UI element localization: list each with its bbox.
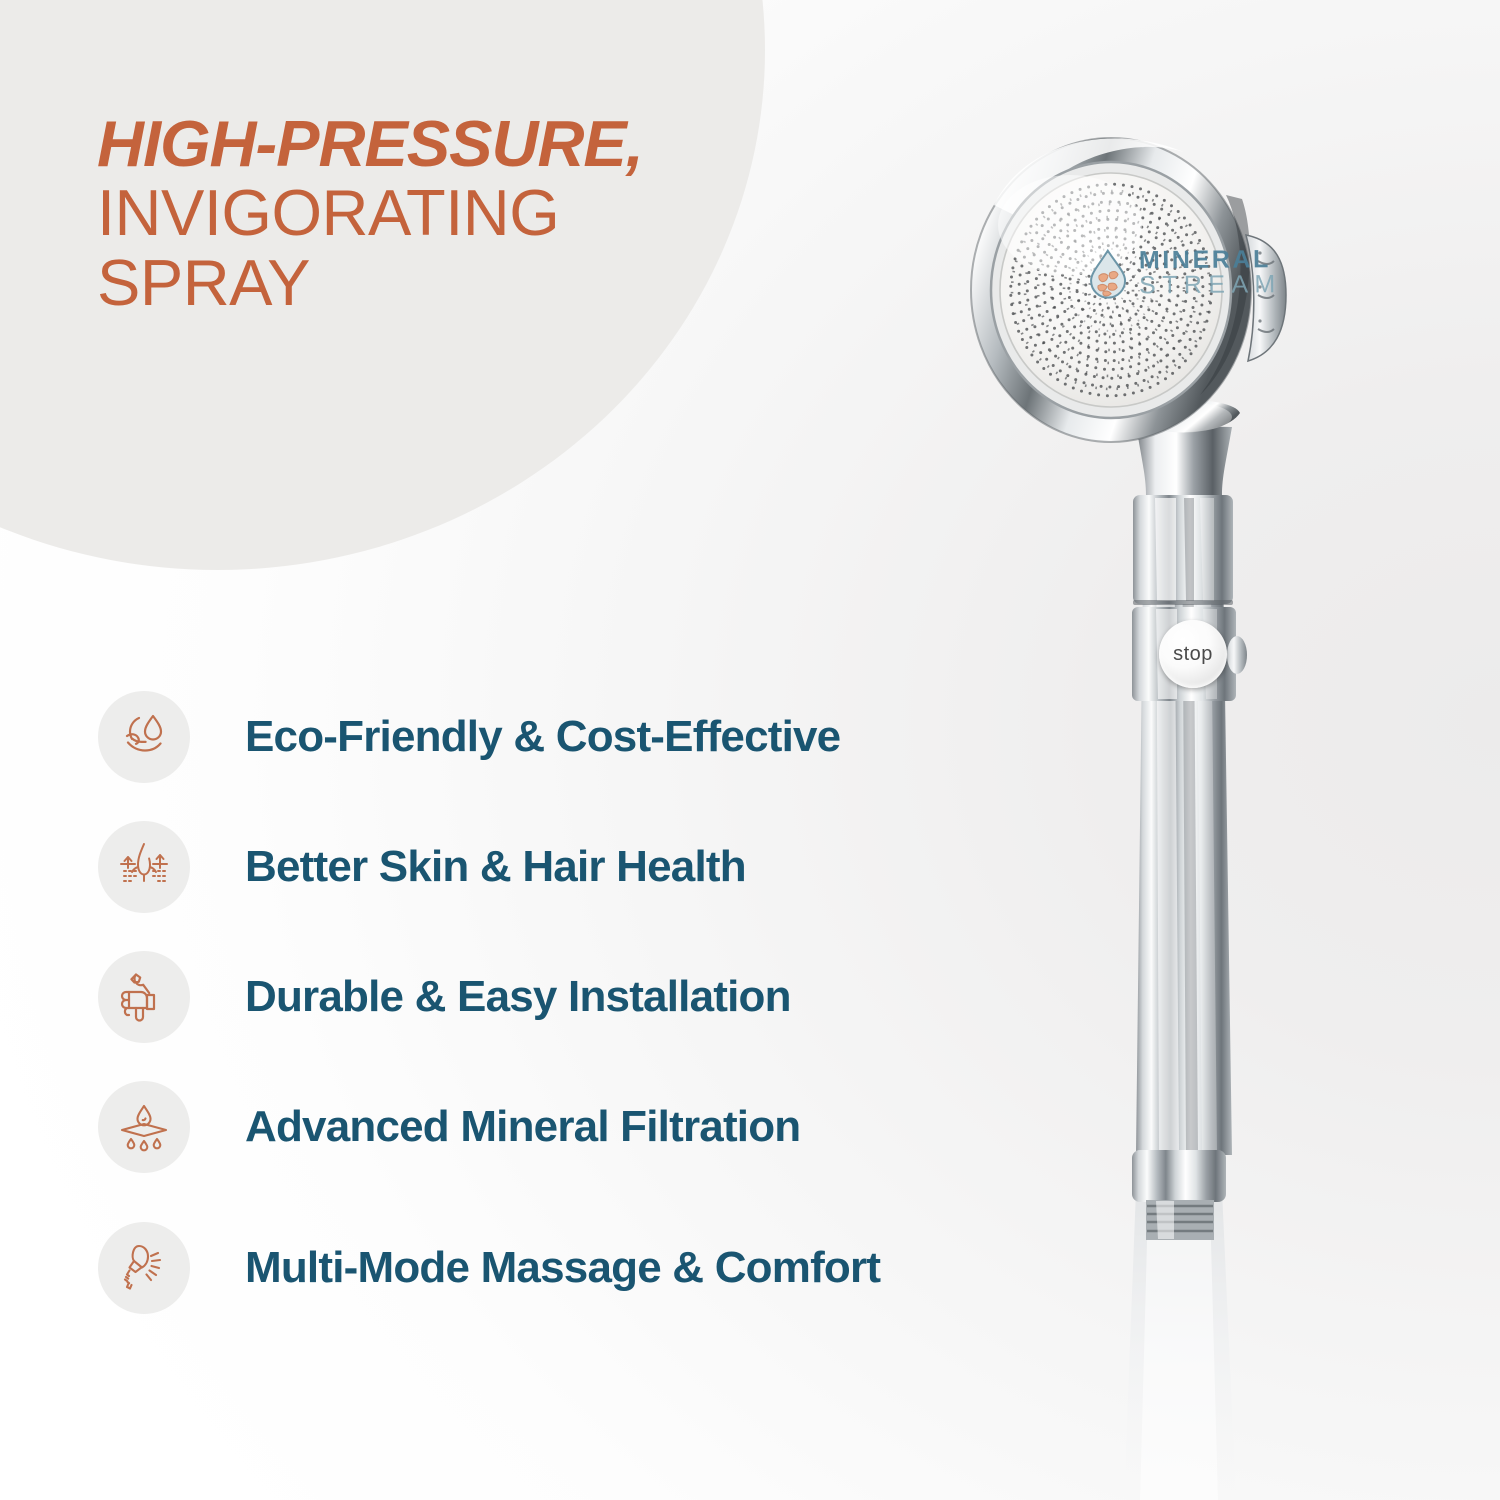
shower-head-illustration [960,95,1390,1500]
headline-line-1: HIGH-PRESSURE, [97,112,737,176]
headline-line-2: INVIGORATING [97,181,737,245]
stop-button-label: stop [1173,643,1213,666]
list-item-label: Durable & Easy Installation [245,974,791,1021]
brand-name-line-2: STREAM [1139,273,1282,297]
page-title: HIGH-PRESSURE, INVIGORATING SPRAY [97,112,737,315]
list-item: Advanced Mineral Filtration [98,1062,1088,1192]
feature-list: Eco-Friendly & Cost-Effective Better Ski… [98,672,1088,1344]
list-item: Eco-Friendly & Cost-Effective [98,672,1088,802]
list-item: Durable & Easy Installation [98,932,1088,1062]
list-item: Multi-Mode Massage & Comfort [98,1192,1088,1344]
list-item: Better Skin & Hair Health [98,802,1088,932]
handheld-shower-spray-icon [98,1222,190,1314]
brand-logo: MINERAL STREAM [1086,246,1282,300]
product-image: MINERAL STREAM stop [960,95,1390,1500]
mineral-water-drop-logo [1086,247,1130,299]
list-item-label: Better Skin & Hair Health [245,844,746,891]
headline-line-3: SPRAY [97,251,737,315]
hand-water-drop-icon [98,691,190,783]
stop-button[interactable]: stop [1159,620,1227,688]
list-item-label: Multi-Mode Massage & Comfort [245,1245,880,1292]
product-feature-banner: HIGH-PRESSURE, INVIGORATING SPRAY Eco-Fr… [0,0,1500,1500]
hand-wrench-icon [98,951,190,1043]
list-item-label: Advanced Mineral Filtration [245,1104,800,1151]
filter-droplets-icon [98,1081,190,1173]
hair-follicle-arrows-icon [98,821,190,913]
brand-name-line-1: MINERAL [1139,248,1282,272]
list-item-label: Eco-Friendly & Cost-Effective [245,714,840,761]
